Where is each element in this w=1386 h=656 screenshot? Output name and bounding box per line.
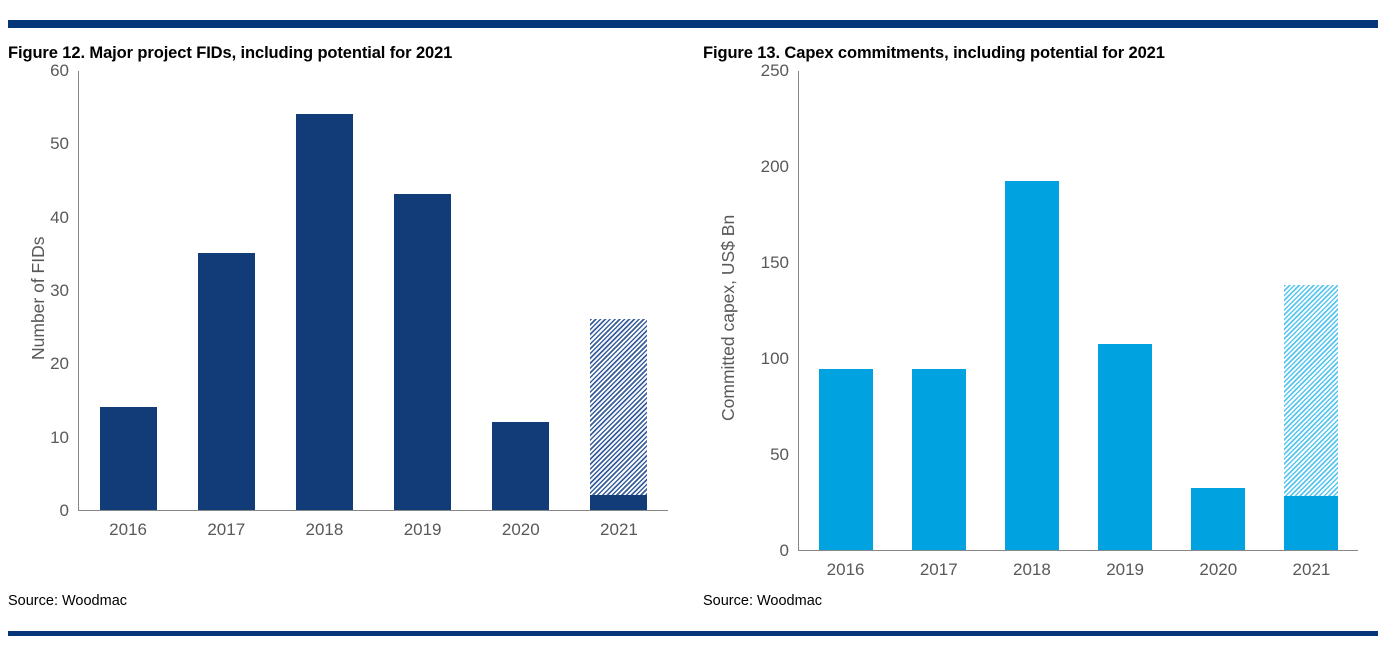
y-tick-label: 200 bbox=[761, 157, 798, 177]
bar-cell bbox=[472, 71, 570, 510]
bar-segment-actual bbox=[492, 422, 549, 510]
bar-cell bbox=[374, 71, 472, 510]
bar-segment-actual bbox=[1098, 344, 1152, 549]
bar-2019[interactable] bbox=[394, 194, 451, 509]
x-tick-label: 2017 bbox=[892, 560, 985, 580]
bar-2021[interactable] bbox=[590, 319, 647, 510]
bar-segment-actual bbox=[394, 194, 451, 509]
figure-12-y-axis-title: Number of FIDs bbox=[28, 158, 49, 438]
y-tick-label: 20 bbox=[50, 354, 78, 374]
bar-cell bbox=[570, 71, 668, 510]
bar-cell bbox=[1079, 71, 1172, 550]
bar-2016[interactable] bbox=[819, 369, 873, 549]
bar-2018[interactable] bbox=[1005, 181, 1059, 550]
bar-2017[interactable] bbox=[912, 369, 966, 549]
bar-2020[interactable] bbox=[492, 422, 549, 510]
y-tick-label: 40 bbox=[50, 208, 78, 228]
figure-13-plot-area: 050100150200250 201620172018201920202021 bbox=[798, 71, 1358, 551]
bar-segment-actual bbox=[1191, 488, 1245, 549]
bar-segment-actual bbox=[296, 114, 353, 510]
x-tick-label: 2016 bbox=[799, 560, 892, 580]
x-tick-label: 2020 bbox=[1172, 560, 1265, 580]
figure-12-x-labels: 201620172018201920202021 bbox=[79, 511, 668, 540]
y-tick-label: 10 bbox=[50, 428, 78, 448]
bar-cell bbox=[892, 71, 985, 550]
bar-2017[interactable] bbox=[198, 253, 255, 510]
bar-segment-actual bbox=[100, 407, 157, 510]
bar-2020[interactable] bbox=[1191, 488, 1245, 549]
y-tick-label: 50 bbox=[770, 445, 798, 465]
x-tick-label: 2017 bbox=[177, 520, 275, 540]
bar-cell bbox=[79, 71, 177, 510]
y-tick-label: 50 bbox=[50, 134, 78, 154]
bar-2018[interactable] bbox=[296, 114, 353, 510]
figure-13-x-labels: 201620172018201920202021 bbox=[799, 551, 1358, 580]
bar-2021[interactable] bbox=[1284, 285, 1338, 550]
figure-13-y-axis-title: Committed capex, US$ Bn bbox=[718, 123, 739, 513]
x-tick-label: 2019 bbox=[1079, 560, 1172, 580]
x-tick-label: 2021 bbox=[570, 520, 668, 540]
x-tick-label: 2016 bbox=[79, 520, 177, 540]
bar-cell bbox=[799, 71, 892, 550]
bar-cell bbox=[177, 71, 275, 510]
bar-cell bbox=[1265, 71, 1358, 550]
bar-segment-actual bbox=[819, 369, 873, 549]
y-tick-label: 0 bbox=[780, 541, 798, 561]
x-tick-label: 2018 bbox=[985, 560, 1078, 580]
bar-segment-actual bbox=[590, 495, 647, 510]
figure-13-source: Source: Woodmac bbox=[703, 593, 822, 609]
bottom-accent-rule bbox=[8, 631, 1378, 636]
bar-segment-actual bbox=[1005, 181, 1059, 550]
y-tick-label: 250 bbox=[761, 61, 798, 81]
bar-2019[interactable] bbox=[1098, 344, 1152, 549]
bar-segment-potential bbox=[590, 319, 647, 495]
y-tick-label: 150 bbox=[761, 253, 798, 273]
top-accent-rule bbox=[8, 20, 1378, 28]
y-tick-label: 0 bbox=[60, 501, 78, 521]
figure-12-plot-area: 0102030405060 201620172018201920202021 bbox=[78, 71, 668, 511]
x-tick-label: 2020 bbox=[472, 520, 570, 540]
bar-cell bbox=[275, 71, 373, 510]
figure-12-bars bbox=[79, 71, 668, 510]
bar-cell bbox=[985, 71, 1078, 550]
figure-13-panel: Figure 13. Capex commitments, including … bbox=[693, 28, 1386, 628]
bar-segment-actual bbox=[912, 369, 966, 549]
bar-segment-potential bbox=[1284, 285, 1338, 496]
x-tick-label: 2018 bbox=[275, 520, 373, 540]
x-tick-label: 2021 bbox=[1265, 560, 1358, 580]
figure-12-source: Source: Woodmac bbox=[8, 593, 127, 609]
x-tick-label: 2019 bbox=[374, 520, 472, 540]
bar-2016[interactable] bbox=[100, 407, 157, 510]
bar-segment-actual bbox=[198, 253, 255, 510]
bar-segment-actual bbox=[1284, 496, 1338, 550]
y-tick-label: 100 bbox=[761, 349, 798, 369]
bar-cell bbox=[1172, 71, 1265, 550]
y-tick-label: 30 bbox=[50, 281, 78, 301]
figure-12-panel: Figure 12. Major project FIDs, including… bbox=[0, 28, 693, 628]
y-tick-label: 60 bbox=[50, 61, 78, 81]
figure-13-bars bbox=[799, 71, 1358, 550]
